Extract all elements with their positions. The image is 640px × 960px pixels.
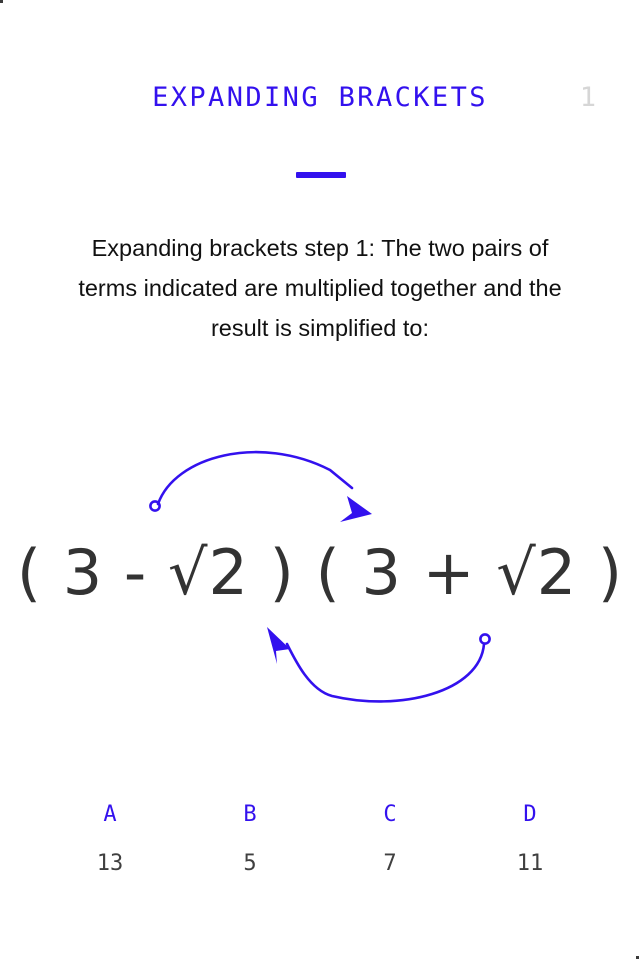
expression-stimulus: ( 3 - √2 ) ( 3 + √2 )	[0, 400, 640, 740]
answer-option-d[interactable]: D 11	[460, 800, 600, 900]
top-pairing-arrow	[150, 452, 372, 522]
title-divider	[296, 172, 346, 178]
answer-option-b[interactable]: B 5	[180, 800, 320, 900]
top-pairing-arrow-origin-circle-icon	[150, 501, 159, 510]
page-title: EXPANDING BRACKETS	[0, 78, 640, 118]
answer-option-a[interactable]: A 13	[40, 800, 180, 900]
page-header: EXPANDING BRACKETS 1	[0, 78, 640, 124]
math-expression: ( 3 - √2 ) ( 3 + √2 )	[0, 528, 640, 618]
question-prompt: Expanding brackets step 1: The two pairs…	[70, 228, 570, 348]
question-number-badge: 1	[580, 78, 596, 118]
answer-options: A 13 B 5 C 7 D 11	[40, 800, 600, 900]
answer-option-d-letter: D	[460, 800, 600, 830]
question-page: EXPANDING BRACKETS 1 Expanding brackets …	[0, 0, 640, 960]
top-pairing-arrow-path	[158, 452, 352, 504]
top-pairing-arrow-head-icon	[340, 496, 372, 522]
bottom-pairing-arrow-origin-circle-icon	[480, 634, 489, 643]
answer-option-c-letter: C	[320, 800, 460, 830]
answer-option-b-value: 5	[180, 849, 320, 879]
bottom-pairing-arrow-head-icon	[267, 627, 290, 664]
answer-option-a-value: 13	[40, 849, 180, 879]
corner-registration-mark-top-left	[0, 0, 3, 3]
answer-option-b-letter: B	[180, 800, 320, 830]
corner-registration-mark-bottom-right	[636, 956, 639, 959]
bottom-pairing-arrow	[267, 627, 490, 701]
answer-option-c[interactable]: C 7	[320, 800, 460, 900]
answer-option-a-letter: A	[40, 800, 180, 830]
bottom-pairing-arrow-path	[287, 644, 484, 701]
answer-option-d-value: 11	[460, 849, 600, 879]
answer-option-c-value: 7	[320, 849, 460, 879]
